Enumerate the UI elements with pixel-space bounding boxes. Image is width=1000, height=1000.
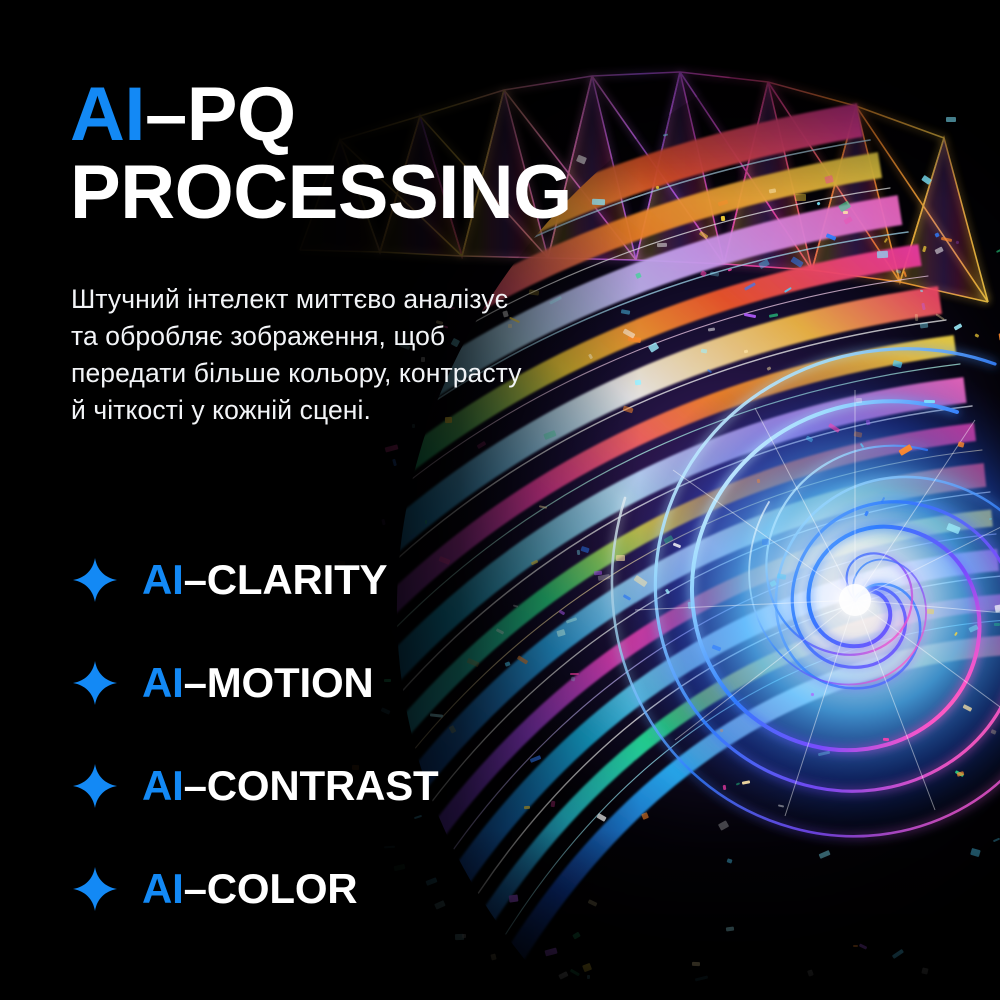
feature-accent-color: AI bbox=[142, 865, 184, 912]
feature-accent-motion: AI bbox=[142, 659, 184, 706]
feature-text-clarity: –CLARITY bbox=[184, 556, 388, 603]
feature-item-clarity[interactable]: AI–CLARITY bbox=[72, 528, 439, 631]
page-title-rest: –PQ PROCESSING bbox=[70, 72, 572, 235]
feature-item-motion[interactable]: AI–MOTION bbox=[72, 631, 439, 734]
poster-canvas: AI–PQ PROCESSING Штучний інтелект миттєв… bbox=[0, 0, 1000, 1000]
sparkle-icon bbox=[72, 866, 118, 912]
description-paragraph: Штучний інтелект миттєво аналізує та обр… bbox=[71, 281, 541, 429]
feature-list: AI–CLARITY AI–MOTION AI–CONTRAST AI–COLO… bbox=[72, 528, 439, 940]
content-overlay: AI–PQ PROCESSING Штучний інтелект миттєв… bbox=[0, 0, 1000, 1000]
sparkle-icon bbox=[72, 557, 118, 603]
sparkle-icon bbox=[72, 660, 118, 706]
feature-item-contrast[interactable]: AI–CONTRAST bbox=[72, 734, 439, 837]
feature-label-clarity: AI–CLARITY bbox=[142, 556, 387, 604]
page-title: AI–PQ PROCESSING bbox=[70, 76, 572, 231]
feature-label-color: AI–COLOR bbox=[142, 865, 357, 913]
feature-label-contrast: AI–CONTRAST bbox=[142, 762, 439, 810]
feature-item-color[interactable]: AI–COLOR bbox=[72, 837, 439, 940]
sparkle-icon bbox=[72, 763, 118, 809]
feature-text-contrast: –CONTRAST bbox=[184, 762, 439, 809]
feature-accent-clarity: AI bbox=[142, 556, 184, 603]
feature-accent-contrast: AI bbox=[142, 762, 184, 809]
page-title-accent: AI bbox=[70, 72, 145, 157]
feature-text-color: –COLOR bbox=[184, 865, 358, 912]
feature-text-motion: –MOTION bbox=[184, 659, 374, 706]
feature-label-motion: AI–MOTION bbox=[142, 659, 374, 707]
